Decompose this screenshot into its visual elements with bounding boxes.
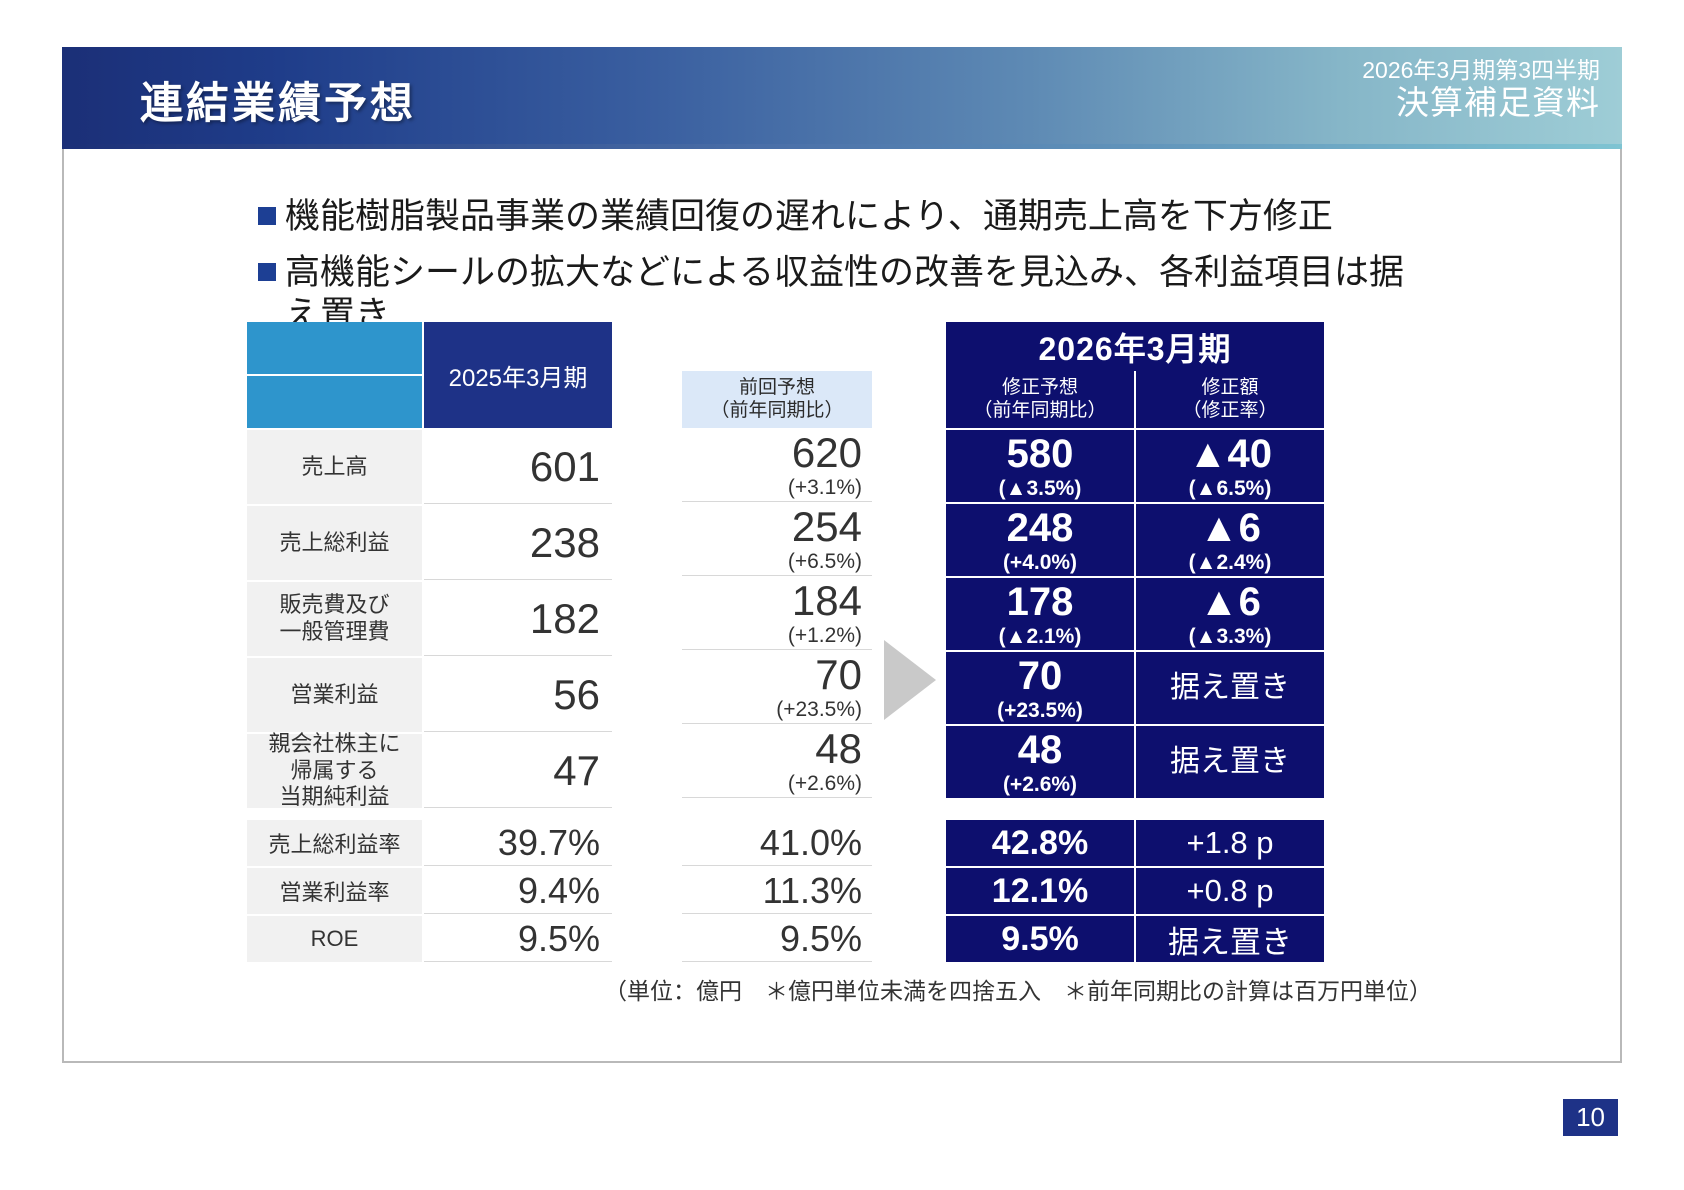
revision-amount-cell: ▲40 (▲6.5%)	[1136, 430, 1324, 502]
revision-amount-value: 据え置き	[1170, 747, 1290, 777]
row-label-line: 一般管理費	[279, 619, 389, 646]
header-document-label: 決算補足資料	[1362, 84, 1600, 123]
header-underline	[62, 144, 1622, 149]
table-row: 営業利益率 9.4%	[247, 866, 612, 914]
revision-amount-cell: 据え置き	[1136, 726, 1324, 798]
revision-amount-value: 据え置き	[1170, 673, 1290, 703]
row-label-line: 販売費及び	[279, 592, 389, 619]
revised-forecast-cell: 580 (▲3.5%)	[946, 430, 1136, 502]
page-number-badge: 10	[1563, 1099, 1618, 1136]
previous-forecast-pct: (+6.5%)	[788, 550, 862, 574]
revised-forecast-cell: 178 (▲2.1%)	[946, 578, 1136, 650]
ratio-revised-value: 42.8%	[946, 820, 1136, 866]
fy2026-header-label: 2026年3月期	[946, 322, 1324, 371]
revision-amount-value: ▲6	[1199, 582, 1261, 622]
header-subtitle-block: 2026年3月期第3四半期 決算補足資料	[1362, 57, 1600, 123]
square-bullet-icon	[258, 207, 276, 225]
row-label: 営業利益	[247, 658, 424, 732]
row-label: 親会社株主に 帰属する 当期純利益	[247, 734, 424, 808]
right-arrow-icon	[884, 640, 936, 720]
row-label-multiline: 親会社株主に 帰属する 当期純利益	[268, 731, 400, 811]
ratio-previous-value: 11.3%	[682, 866, 872, 914]
row-label-multiline: 販売費及び 一般管理費	[279, 592, 389, 646]
ratio-previous-value: 41.0%	[682, 818, 872, 866]
previous-forecast-value: 48	[815, 728, 862, 770]
footnote: （単位：億円 ＊億円単位未満を四捨五入 ＊前年同期比の計算は百万円単位）	[604, 972, 1432, 1006]
revision-amount-cell: ▲6 (▲3.3%)	[1136, 578, 1324, 650]
row-label-line: 営業利益	[290, 682, 378, 709]
revised-forecast-pct: (+23.5%)	[997, 700, 1083, 721]
revised-forecast-cell: 48 (+2.6%)	[946, 726, 1136, 798]
revised-forecast-value: 248	[1007, 508, 1074, 548]
revised-forecast-cell: 70 (+23.5%)	[946, 652, 1136, 724]
revision-amount-pct: (▲3.3%)	[1189, 626, 1272, 647]
revised-forecast-value: 70	[1018, 656, 1063, 696]
row-label-line: 当期純利益	[268, 784, 400, 811]
previous-forecast-header-line2: （前年同期比）	[710, 400, 843, 423]
revision-amount-header-line1: 修正額	[1201, 377, 1258, 400]
slide: 連結業績予想 2026年3月期第3四半期 決算補足資料 機能樹脂製品事業の業績回…	[0, 0, 1684, 1190]
table-row: 42.8% +1.8 p	[946, 818, 1324, 866]
row-label-header-blank	[247, 322, 424, 428]
previous-forecast-cell: 254 (+6.5%)	[682, 502, 872, 576]
ratio-revised-table: 42.8% +1.8 p 12.1% +0.8 p 9.5% 据え置き	[946, 818, 1324, 962]
ratio-revision-amount: +0.8 p	[1136, 868, 1324, 914]
previous-forecast-value: 70	[815, 654, 862, 696]
table-row: 親会社株主に 帰属する 当期純利益 47	[247, 732, 612, 808]
previous-forecast-pct: (+3.1%)	[788, 476, 862, 500]
revision-amount-pct: (▲6.5%)	[1189, 478, 1272, 499]
previous-forecast-cell: 620 (+3.1%)	[682, 428, 872, 502]
fy2025-value: 56	[424, 658, 612, 732]
page-title: 連結業績予想	[140, 69, 416, 131]
slide-header-bar: 連結業績予想 2026年3月期第3四半期 決算補足資料	[62, 47, 1622, 144]
previous-forecast-pct: (+2.6%)	[788, 772, 862, 796]
revised-forecast-header-line1: 修正予想	[1002, 377, 1078, 400]
fy2025-value: 238	[424, 506, 612, 580]
revised-table-subheader: 修正予想 （前年同期比） 修正額 （修正率）	[946, 371, 1324, 428]
ratio-row-label: 営業利益率	[247, 868, 424, 914]
previous-forecast-cell: 48 (+2.6%)	[682, 724, 872, 798]
table-row: 48 (+2.6%) 据え置き	[946, 724, 1324, 798]
revised-forecast-pct: (▲3.5%)	[999, 478, 1082, 499]
ratio-revised-value: 12.1%	[946, 868, 1136, 914]
row-label: 売上総利益	[247, 506, 424, 580]
row-label: 売上高	[247, 430, 424, 504]
revised-forecast-header: 修正予想 （前年同期比）	[946, 371, 1136, 428]
previous-forecast-cell: 184 (+1.2%)	[682, 576, 872, 650]
square-bullet-icon	[258, 263, 276, 281]
revision-amount-header-line2: （修正率）	[1182, 400, 1277, 423]
revised-forecast-pct: (+4.0%)	[1003, 552, 1077, 573]
revised-forecast-pct: (▲2.1%)	[999, 626, 1082, 647]
header-period-label: 2026年3月期第3四半期	[1362, 57, 1600, 84]
table-row: 70 (+23.5%) 据え置き	[946, 650, 1324, 724]
revised-forecast-value: 178	[1007, 582, 1074, 622]
ratio-fy2025-value: 39.7%	[424, 820, 612, 866]
revised-forecast-pct: (+2.6%)	[1003, 774, 1077, 795]
ratio-fy2025-table: 売上総利益率 39.7% 営業利益率 9.4% ROE 9.5%	[247, 818, 612, 962]
table-row: 580 (▲3.5%) ▲40 (▲6.5%)	[946, 428, 1324, 502]
revision-amount-cell: 据え置き	[1136, 652, 1324, 724]
table-row: 248 (+4.0%) ▲6 (▲2.4%)	[946, 502, 1324, 576]
revision-amount-cell: ▲6 (▲2.4%)	[1136, 504, 1324, 576]
ratio-revision-amount: +1.8 p	[1136, 820, 1324, 866]
row-label-line: 売上高	[301, 454, 367, 481]
table-row: 売上高 601	[247, 428, 612, 504]
table-row: 営業利益 56	[247, 656, 612, 732]
bullet-text: 機能樹脂製品事業の業績回復の遅れにより、通期売上高を下方修正	[285, 196, 1333, 238]
ratio-fy2025-value: 9.5%	[424, 916, 612, 962]
revision-amount-header: 修正額 （修正率）	[1136, 371, 1324, 428]
fy2025-header-label: 2025年3月期	[424, 322, 612, 428]
previous-forecast-cell: 70 (+23.5%)	[682, 650, 872, 724]
fy2025-table-header: 2025年3月期	[247, 322, 612, 428]
revision-amount-value: ▲6	[1199, 508, 1261, 548]
fy2025-value: 47	[424, 734, 612, 808]
previous-forecast-header: 前回予想 （前年同期比）	[682, 371, 872, 428]
ratio-fy2025-value: 9.4%	[424, 868, 612, 914]
table-row: 12.1% +0.8 p	[946, 866, 1324, 914]
table-row: 売上総利益 238	[247, 504, 612, 580]
table-row: ROE 9.5%	[247, 914, 612, 962]
previous-forecast-value: 184	[792, 580, 862, 622]
fy2025-value: 601	[424, 430, 612, 504]
previous-forecast-header-line1: 前回予想	[739, 377, 815, 400]
row-label-line: 帰属する	[268, 758, 400, 785]
ratio-row-label: ROE	[247, 916, 424, 962]
previous-forecast-pct: (+23.5%)	[776, 698, 862, 722]
revised-forecast-value: 580	[1007, 434, 1074, 474]
ratio-revised-value: 9.5%	[946, 916, 1136, 962]
revision-amount-pct: (▲2.4%)	[1189, 552, 1272, 573]
table-row: 9.5% 据え置き	[946, 914, 1324, 962]
bullet-item: 機能樹脂製品事業の業績回復の遅れにより、通期売上高を下方修正	[258, 196, 1438, 238]
previous-forecast-table: 前回予想 （前年同期比） 620 (+3.1%) 254 (+6.5%) 184…	[682, 322, 872, 798]
fy2025-table: 2025年3月期 売上高 601 売上総利益 238 販売費及び 一般管理費 1…	[247, 322, 612, 808]
ratio-previous-value: 9.5%	[682, 914, 872, 962]
ratio-revision-amount: 据え置き	[1136, 916, 1324, 962]
table-row: 売上総利益率 39.7%	[247, 818, 612, 866]
revision-amount-value: ▲40	[1188, 434, 1272, 474]
previous-forecast-pct: (+1.2%)	[788, 624, 862, 648]
revised-forecast-table: 2026年3月期 修正予想 （前年同期比） 修正額 （修正率） 580 (▲3.…	[946, 322, 1324, 798]
ratio-previous-table: 41.0% 11.3% 9.5%	[682, 818, 872, 962]
revised-forecast-header-line2: （前年同期比）	[973, 400, 1106, 423]
row-label-line: 親会社株主に	[268, 731, 400, 758]
ratio-row-label: 売上総利益率	[247, 820, 424, 866]
row-label: 販売費及び 一般管理費	[247, 582, 424, 656]
fy2025-value: 182	[424, 582, 612, 656]
revised-forecast-cell: 248 (+4.0%)	[946, 504, 1136, 576]
table-row: 178 (▲2.1%) ▲6 (▲3.3%)	[946, 576, 1324, 650]
previous-forecast-value: 254	[792, 506, 862, 548]
previous-forecast-value: 620	[792, 432, 862, 474]
row-label-line: 売上総利益	[279, 530, 389, 557]
revised-forecast-value: 48	[1018, 730, 1063, 770]
mid-table-spacer	[682, 322, 872, 371]
table-row: 販売費及び 一般管理費 182	[247, 580, 612, 656]
